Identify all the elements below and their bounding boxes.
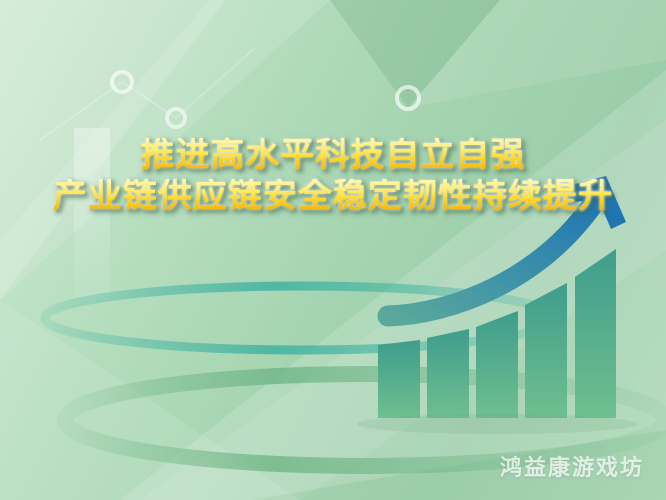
title-line-2: 产业链供应链安全稳定韧性持续提升 <box>53 179 613 214</box>
arrow-curve <box>388 200 596 316</box>
title-line-2-wrap: 产业链供应链安全稳定韧性持续提升 产业链供应链安全稳定韧性持续提升 <box>53 173 613 214</box>
bar-3 <box>476 311 518 418</box>
bar-4 <box>525 283 567 418</box>
orbit-teal <box>45 286 555 350</box>
bar-2 <box>427 329 469 418</box>
title-line-1-wrap: 推进高水平科技自立自强 推进高水平科技自立自强 <box>141 138 526 173</box>
background-decoration <box>0 0 666 500</box>
wedge-right-ray <box>408 0 666 108</box>
ring-small-top-center <box>397 87 419 109</box>
bar-1 <box>378 340 420 418</box>
ring-connector-line <box>40 48 255 140</box>
ring-small-top-left <box>112 72 132 92</box>
background-shapes <box>0 0 666 500</box>
poster-title: 推进高水平科技自立自强 推进高水平科技自立自强 产业链供应链安全稳定韧性持续提升… <box>0 138 666 213</box>
wedge-bottom-left <box>0 300 300 500</box>
ring-small-mid-left <box>167 109 185 127</box>
bar-5 <box>575 249 616 418</box>
poster-canvas: 推进高水平科技自立自强 推进高水平科技自立自强 产业链供应链安全稳定韧性持续提升… <box>0 0 666 500</box>
bar-chart <box>378 249 616 418</box>
title-line-1: 推进高水平科技自立自强 <box>141 138 526 173</box>
ground-shadow <box>357 414 637 434</box>
watermark-text: 鸿益康游戏坊 <box>500 450 644 482</box>
wedge-center-ray <box>330 0 500 108</box>
